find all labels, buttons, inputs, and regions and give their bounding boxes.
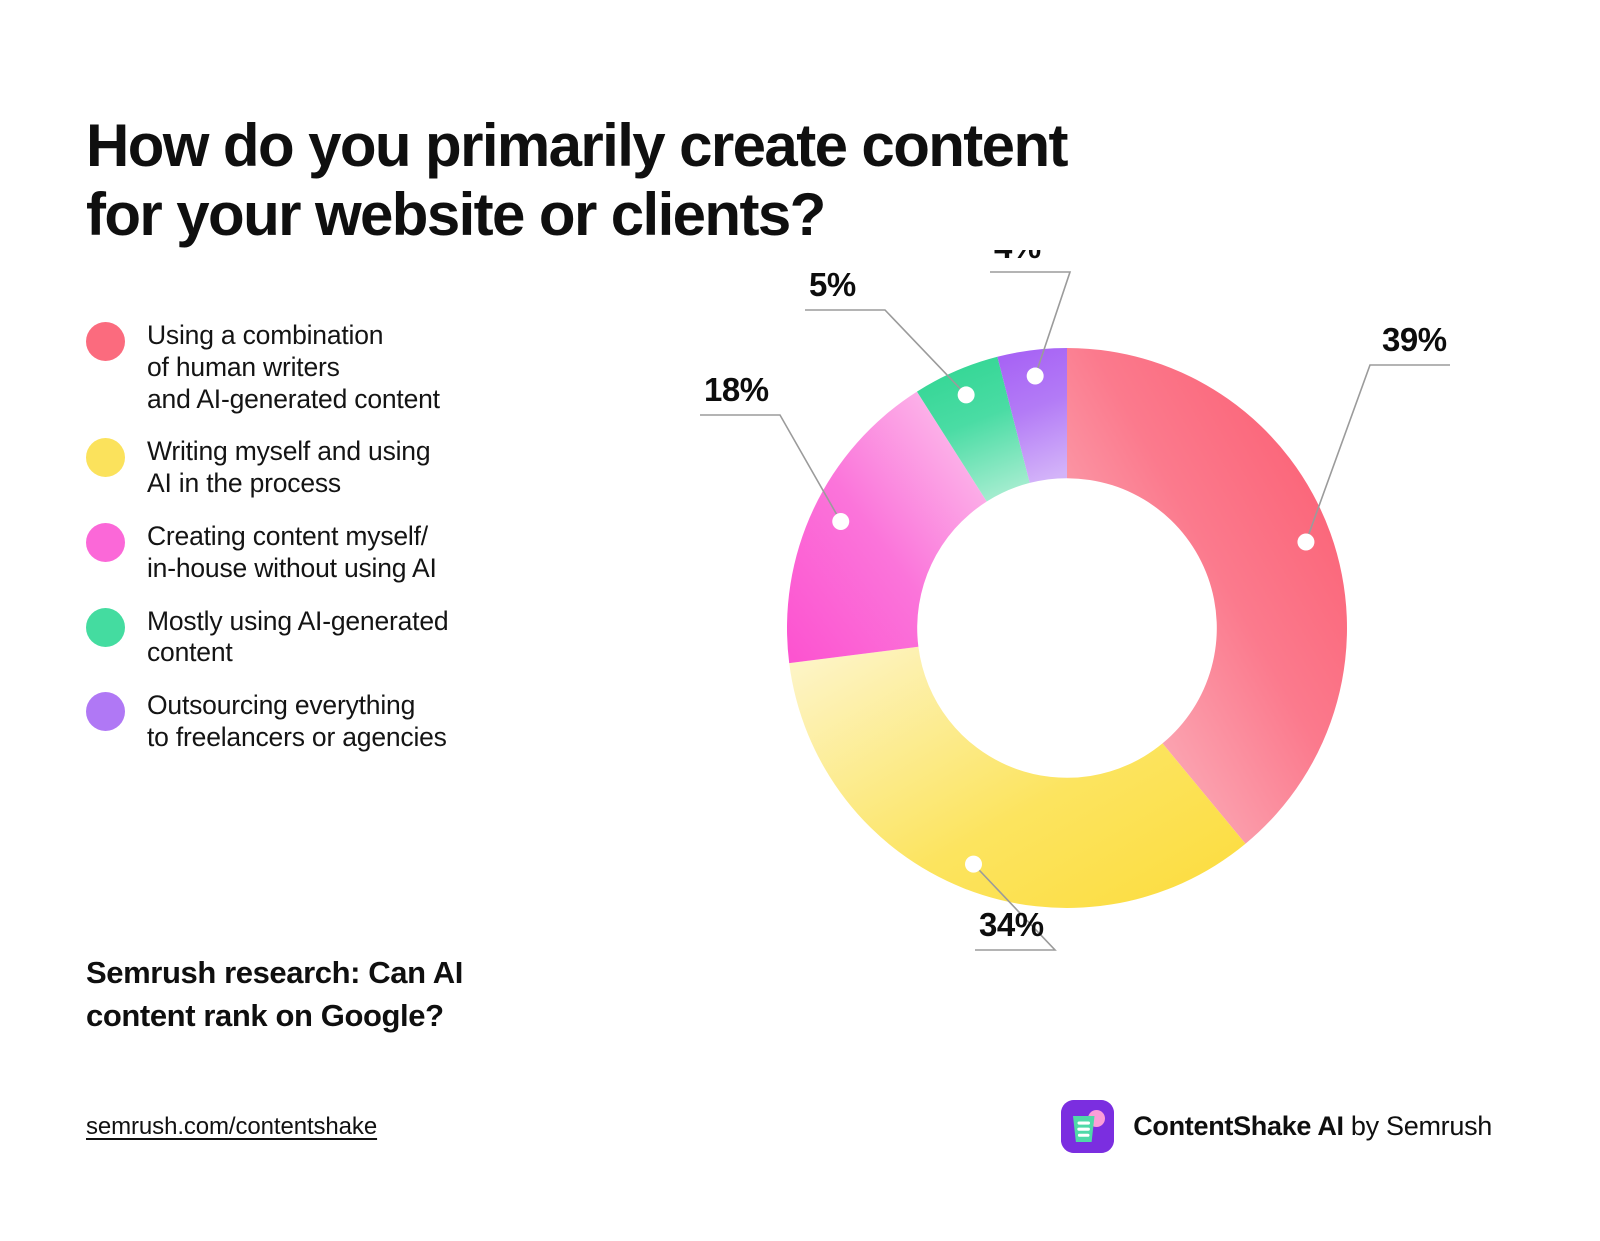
legend-item-writing-myself: Writing myself and using AI in the proce… (86, 434, 556, 500)
legend-item-outsourcing: Outsourcing everything to freelancers or… (86, 688, 556, 754)
semrush-contentshake-link[interactable]: semrush.com/contentshake (86, 1113, 377, 1141)
donut-chart-svg: 39%34%18%5%4% (640, 250, 1540, 1010)
slice-percent-label: 4% (994, 250, 1041, 265)
infographic-page: How do you primarily create content for … (0, 0, 1600, 1241)
donut-slices (787, 348, 1347, 908)
legend-label-combination: Using a combination of human writers and… (147, 318, 440, 415)
donut-slice[interactable] (789, 647, 1245, 908)
legend-swatch-outsourcing (86, 692, 125, 731)
research-note: Semrush research: Can AI content rank on… (86, 952, 626, 1038)
legend-item-mostly-ai: Mostly using AI-generated content (86, 604, 556, 670)
brand-product-name: ContentShake AI (1133, 1111, 1344, 1141)
page-title: How do you primarily create content for … (86, 112, 1206, 249)
leader-line (1306, 365, 1450, 542)
legend-label-creating-in-house: Creating content myself/ in-house withou… (147, 519, 437, 585)
brand-suffix: by Semrush (1344, 1111, 1492, 1141)
legend-swatch-combination (86, 322, 125, 361)
contentshake-logo-icon (1061, 1100, 1114, 1153)
legend-label-mostly-ai: Mostly using AI-generated content (147, 604, 448, 670)
slice-anchor-dot (832, 513, 849, 530)
chart-legend: Using a combination of human writers and… (86, 318, 556, 773)
legend-swatch-creating-in-house (86, 523, 125, 562)
slice-anchor-dot (1027, 368, 1044, 385)
legend-label-writing-myself: Writing myself and using AI in the proce… (147, 434, 430, 500)
slice-percent-label: 39% (1382, 321, 1447, 358)
donut-slice[interactable] (1067, 348, 1347, 844)
slice-percent-label: 18% (704, 371, 769, 408)
slice-percent-label: 34% (979, 906, 1044, 943)
donut-chart: 39%34%18%5%4% (640, 250, 1540, 1010)
legend-item-creating-in-house: Creating content myself/ in-house withou… (86, 519, 556, 585)
slice-anchor-dot (965, 856, 982, 873)
legend-swatch-writing-myself (86, 438, 125, 477)
legend-label-outsourcing: Outsourcing everything to freelancers or… (147, 688, 447, 754)
slice-anchor-dot (958, 386, 975, 403)
slice-anchor-dot (1297, 533, 1314, 550)
slice-percent-label: 5% (809, 266, 856, 303)
legend-item-combination: Using a combination of human writers and… (86, 318, 556, 415)
legend-swatch-mostly-ai (86, 608, 125, 647)
brand-name: ContentShake AI by Semrush (1133, 1111, 1492, 1142)
brand-lockup: ContentShake AI by Semrush (1061, 1100, 1492, 1153)
